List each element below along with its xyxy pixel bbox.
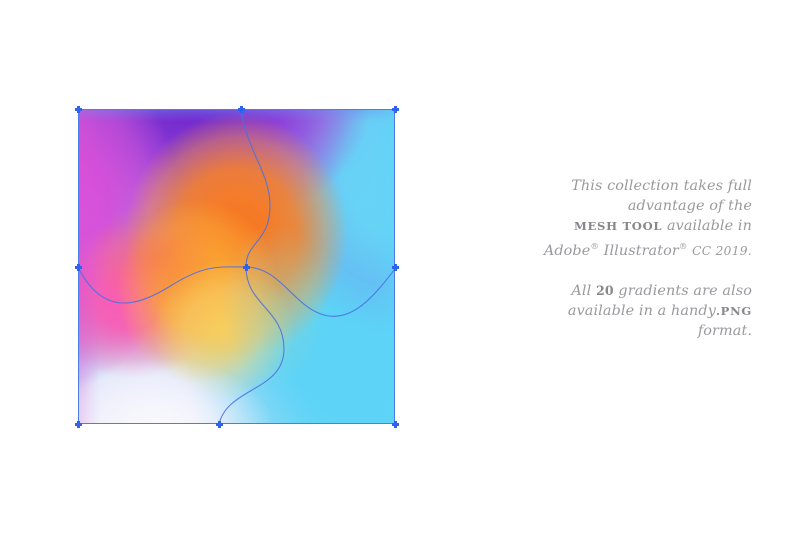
- mesh-layer-right-edge: [78, 109, 395, 424]
- caption-gradient-count: 20: [596, 283, 614, 298]
- caption-p2-line2-prefix: available in a handy: [568, 303, 716, 319]
- caption-p1-line3-rest: available in: [667, 218, 752, 234]
- registered-trademark-icon-2: ®: [679, 242, 688, 252]
- caption-adobe-brand: Adobe: [544, 242, 591, 258]
- caption-paragraph-1: This collection takes full advantage of …: [516, 176, 752, 261]
- caption-p1-line2: advantage of the: [628, 198, 752, 214]
- caption-paragraph-gap: [516, 261, 752, 281]
- gradient-mesh-artwork[interactable]: [78, 109, 395, 424]
- caption-block: This collection takes full advantage of …: [516, 176, 752, 341]
- caption-p2-line3: format.: [698, 323, 752, 339]
- registered-trademark-icon-1: ®: [590, 242, 599, 252]
- caption-version: CC 2019.: [692, 243, 752, 257]
- caption-p2-line1-prefix: All: [571, 283, 591, 299]
- caption-mesh-tool-emphasis: MESH TOOL: [574, 219, 662, 233]
- caption-png-format-emphasis: .PNG: [716, 304, 752, 318]
- caption-p2-line1-suffix: gradients are also: [618, 283, 752, 299]
- mesh-gradient-canvas: [78, 109, 395, 424]
- caption-illustrator-brand: Illustrator: [604, 242, 679, 258]
- caption-p1-line1: This collection takes full: [571, 178, 752, 194]
- caption-paragraph-2: All 20 gradients are also available in a…: [516, 281, 752, 342]
